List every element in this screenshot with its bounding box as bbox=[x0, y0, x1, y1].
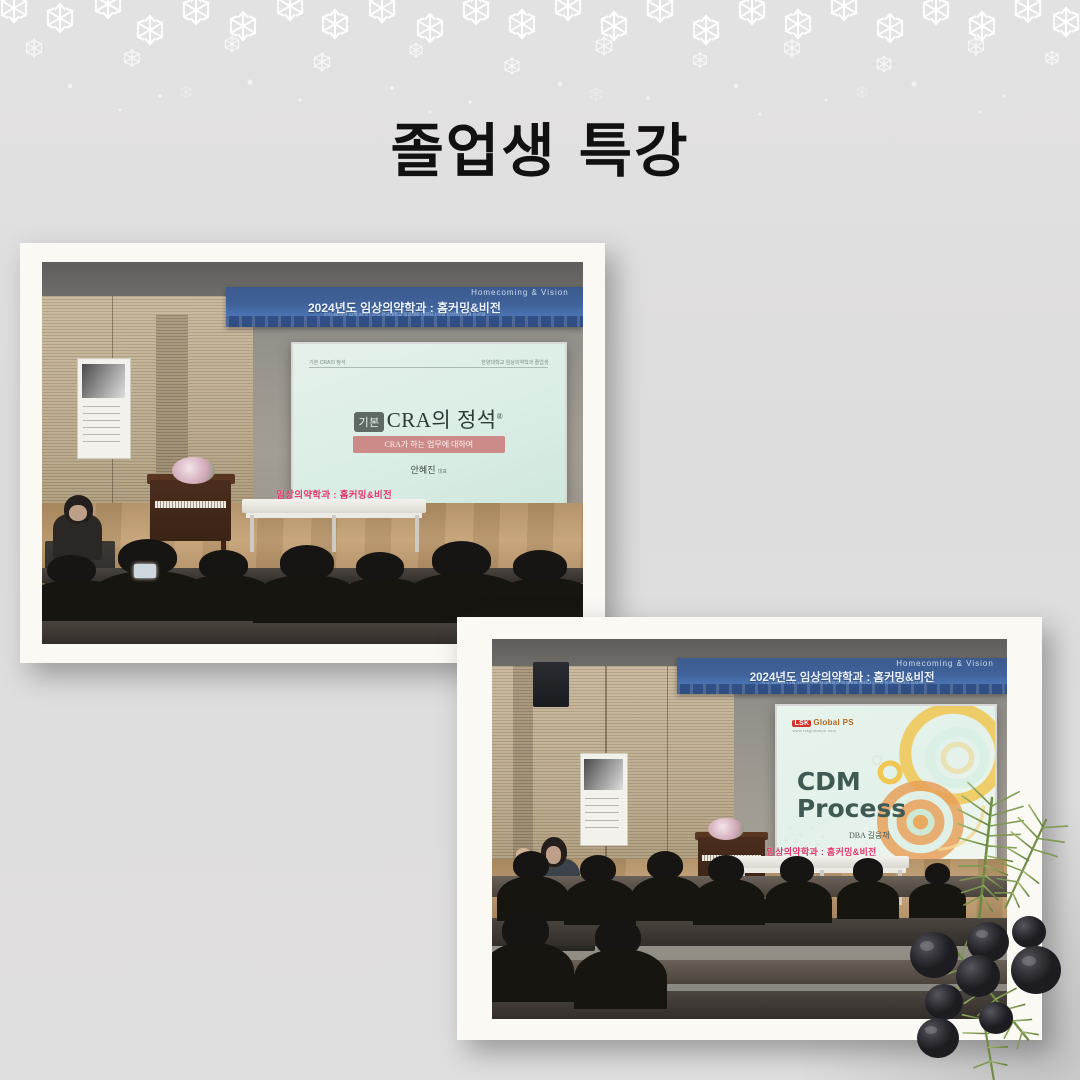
audience-shoulder bbox=[492, 942, 574, 1001]
projection-screen-2: LSKGlobal PS www.lskglobalps.com CDM Pro… bbox=[775, 704, 996, 864]
audience-shoulder bbox=[693, 879, 765, 924]
photo-2-image: Homecoming & Vision 2024년도 임상의약학과 : 홈커밍&… bbox=[492, 639, 1007, 1019]
wall-poster bbox=[580, 753, 628, 846]
wall-poster bbox=[77, 358, 130, 459]
audience-head bbox=[647, 851, 683, 879]
projection-screen-1: 기본 CRA의 정석 한양대학교 임상의약학과 졸업생 기본CRA의 정석® C… bbox=[291, 342, 567, 506]
photo-card-2[interactable]: Homecoming & Vision 2024년도 임상의약학과 : 홈커밍&… bbox=[457, 617, 1042, 1040]
audience-shoulder bbox=[909, 883, 966, 918]
audience-head bbox=[780, 856, 813, 882]
audience-phone-screen bbox=[134, 564, 156, 578]
audience-area bbox=[492, 844, 1007, 1019]
page-title: 졸업생 특강 bbox=[0, 104, 1080, 188]
audience-head bbox=[925, 863, 951, 884]
audience-shoulder bbox=[564, 879, 636, 924]
audience-shoulder bbox=[837, 881, 899, 919]
table-banner-text: 임상의약학과 : 홈커밍&비전 bbox=[250, 487, 419, 500]
photo-1-image: Homecoming & Vision 2024년도 임상의약학과 : 홈커밍&… bbox=[42, 262, 583, 644]
ceiling-speaker-box bbox=[533, 662, 569, 708]
poster-canvas: 졸업생 특강 bbox=[0, 0, 1080, 1080]
photo-card-1[interactable]: Homecoming & Vision 2024년도 임상의약학과 : 홈커밍&… bbox=[20, 243, 605, 663]
audience-head bbox=[513, 851, 549, 879]
event-banner: Homecoming & Vision 2024년도 임상의약학과 : 홈커밍&… bbox=[226, 287, 583, 327]
audience-shoulder bbox=[765, 881, 832, 923]
flower-arrangement bbox=[172, 457, 215, 484]
banner-english-text: Homecoming & Vision bbox=[471, 288, 569, 297]
event-banner: Homecoming & Vision 2024년도 임상의약학과 : 홈커밍&… bbox=[677, 658, 1007, 694]
audience-shoulder bbox=[574, 949, 667, 1008]
banner-english-text: Homecoming & Vision bbox=[896, 659, 994, 668]
snowflake-border-icon bbox=[0, 0, 1080, 120]
audience-head bbox=[853, 858, 884, 882]
